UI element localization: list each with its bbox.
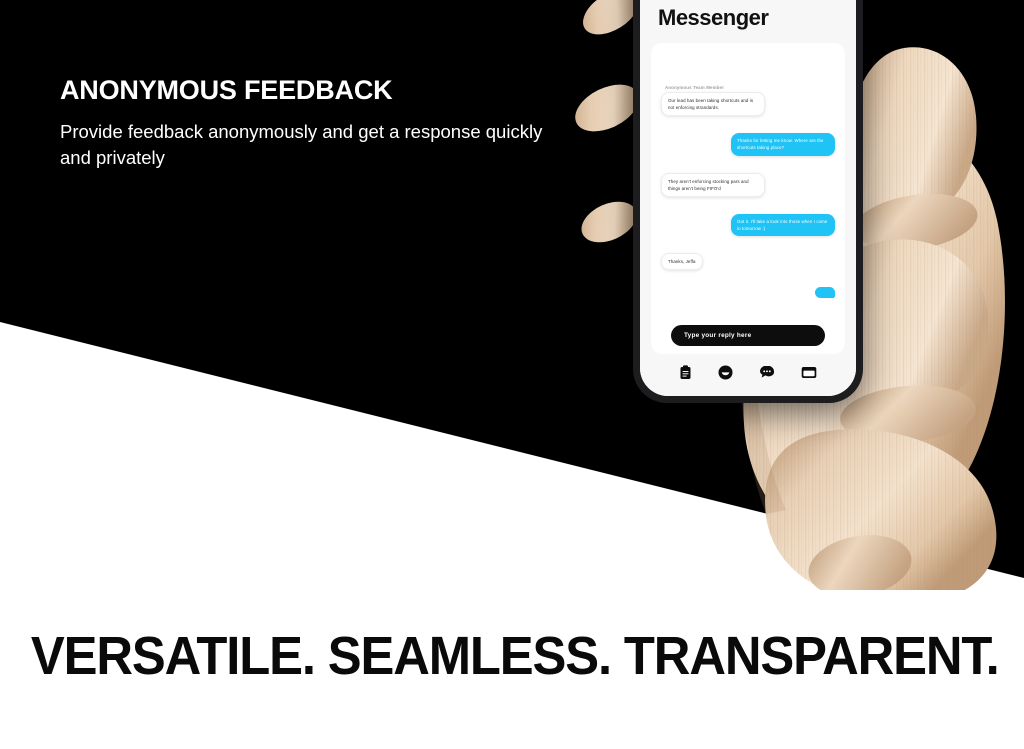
hero-subtitle: Provide feedback anonymously and get a r… bbox=[60, 119, 550, 172]
message-bubble-incoming: Thanks, Jeffa bbox=[661, 253, 703, 270]
phone-mockup: Messenger Anonymous Team Member Our lead… bbox=[633, 0, 863, 403]
chat-bubble-icon[interactable] bbox=[759, 366, 775, 379]
smiley-icon[interactable] bbox=[718, 365, 733, 380]
message-sender-label: Anonymous Team Member bbox=[665, 85, 835, 90]
promo-slide: Messenger Anonymous Team Member Our lead… bbox=[0, 0, 1024, 749]
bottom-tagline: VERSATILE. SEAMLESS. TRANSPARENT. bbox=[0, 625, 1024, 687]
message-row: Thanks, Jeffa bbox=[661, 253, 835, 270]
hero-copy: ANONYMOUS FEEDBACK Provide feedback anon… bbox=[60, 76, 560, 171]
message-bubble-partial bbox=[815, 287, 835, 298]
app-title: Messenger bbox=[640, 0, 856, 41]
reply-input-placeholder: Type your reply here bbox=[684, 332, 751, 339]
message-row bbox=[661, 287, 835, 298]
message-bubble-outgoing: Thanks for letting me know. Where are th… bbox=[731, 133, 835, 155]
hero-title: ANONYMOUS FEEDBACK bbox=[60, 76, 560, 106]
reply-input[interactable]: Type your reply here bbox=[671, 325, 825, 346]
phone-screen: Messenger Anonymous Team Member Our lead… bbox=[640, 0, 856, 396]
message-bubble-incoming: They aren't enforcing stocking pars and … bbox=[661, 173, 765, 197]
clipboard-icon[interactable] bbox=[679, 365, 692, 380]
bottom-tagline-text: VERSATILE. SEAMLESS. TRANSPARENT. bbox=[31, 625, 999, 687]
phone-toolbar bbox=[640, 354, 856, 396]
window-icon[interactable] bbox=[801, 366, 817, 379]
message-row: Got it. I'll take a look into those when… bbox=[661, 214, 835, 236]
conversation-card: Anonymous Team Member Our lead has been … bbox=[651, 43, 845, 354]
message-row: Our lead has been taking shortcuts and i… bbox=[661, 92, 835, 116]
message-row: Thanks for letting me know. Where are th… bbox=[661, 133, 835, 155]
message-bubble-incoming: Our lead has been taking shortcuts and i… bbox=[661, 92, 765, 116]
message-row: They aren't enforcing stocking pars and … bbox=[661, 173, 835, 197]
message-bubble-outgoing: Got it. I'll take a look into those when… bbox=[731, 214, 835, 236]
